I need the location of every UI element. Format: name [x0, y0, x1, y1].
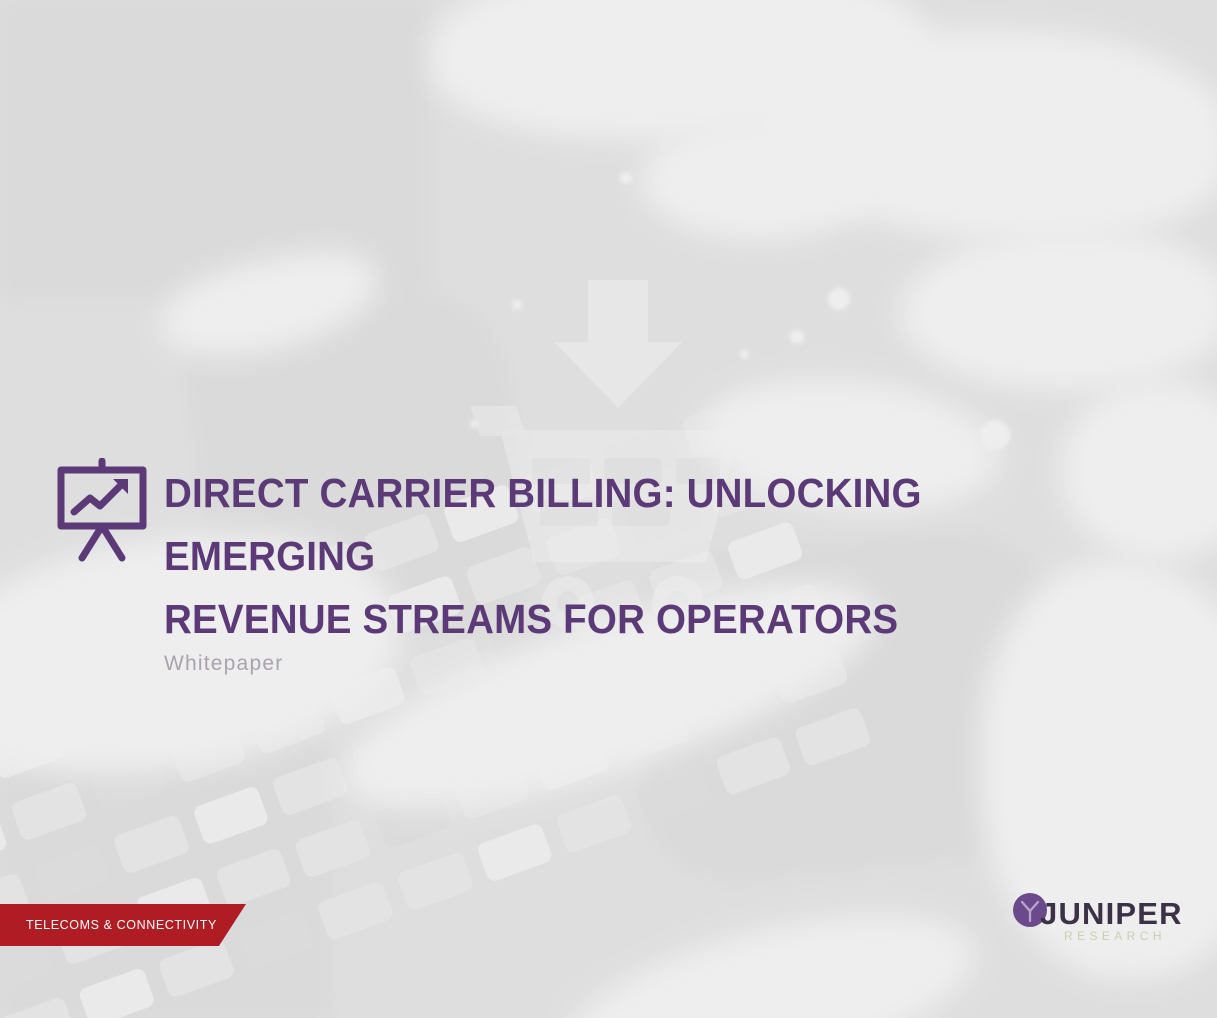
cover-content: DIRECT CARRIER BILLING: UNLOCKING EMERGI…: [0, 0, 1217, 1018]
page-title-text: DIRECT CARRIER BILLING: UNLOCKING EMERGI…: [164, 462, 1104, 651]
whitepaper-cover-page: DIRECT CARRIER BILLING: UNLOCKING EMERGI…: [0, 0, 1217, 1018]
category-ribbon: TELECOMS & CONNECTIVITY: [0, 904, 246, 946]
logo-wordmark: JUNIPER: [1040, 898, 1183, 929]
juniper-research-logo: JUNIPER RESEARCH: [1008, 888, 1188, 952]
page-title: DIRECT CARRIER BILLING: UNLOCKING EMERGI…: [164, 462, 1164, 651]
document-type-label: Whitepaper: [164, 652, 283, 676]
category-ribbon-label: TELECOMS & CONNECTIVITY: [0, 918, 217, 932]
presentation-chart-easel-icon: [56, 458, 148, 562]
logo-subtext: RESEARCH: [1064, 930, 1166, 942]
